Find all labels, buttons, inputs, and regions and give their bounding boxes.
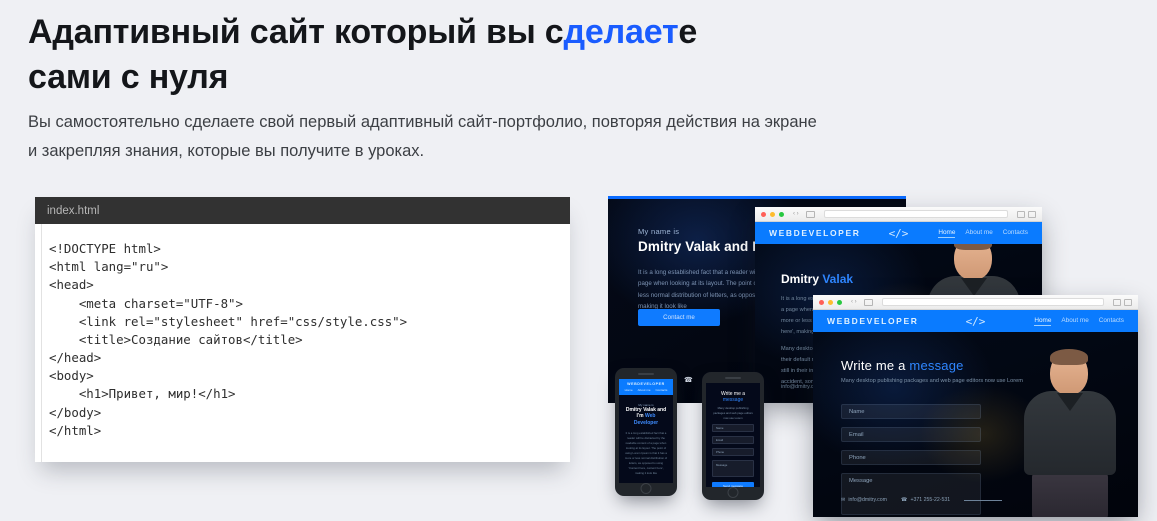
- headline-part-1: Адаптивный сайт который вы с: [28, 13, 564, 51]
- phone-home-button-icon: [728, 487, 739, 498]
- person-photo: [1016, 347, 1124, 517]
- contact-footer: ✉ info@dmitry.com ☎ +371 255-22-531: [841, 497, 1002, 503]
- chrome-right-controls[interactable]: [1113, 299, 1132, 306]
- page-root: Адаптивный сайт который вы сделаете сами…: [0, 0, 1157, 521]
- close-icon[interactable]: [761, 212, 766, 217]
- phone-brand: WEBDEVELOPER: [619, 382, 673, 386]
- mockup-collage: My name is Dmitry Valak and I'm Web Deve…: [600, 190, 1157, 521]
- code-card: index.html <!DOCTYPE html> <html lang="r…: [35, 197, 570, 462]
- phone-nav-contacts[interactable]: Contacts: [656, 388, 668, 392]
- about-title: Dmitry Valak: [781, 272, 853, 286]
- code-glyph-icon: </>: [966, 315, 986, 328]
- phone-screen-hero: WEBDEVELOPER Home About me Contacts My n…: [619, 379, 673, 483]
- mockup-browser-contact: ‹ › WEBDEVELOPER </> Home About me Conta…: [813, 295, 1138, 517]
- phone-handset-icon: ☎: [684, 376, 693, 384]
- contact-field-name[interactable]: Name: [841, 404, 981, 419]
- code-card-header: index.html: [35, 197, 570, 224]
- share-icon[interactable]: [1017, 211, 1025, 218]
- code-glyph-icon: </>: [889, 227, 909, 240]
- page-subtitle: Вы самостоятельно сделаете свой первый а…: [28, 108, 828, 167]
- close-icon[interactable]: [819, 300, 824, 305]
- contact-field-email[interactable]: Email: [841, 427, 981, 442]
- contact-title: Write me a message: [841, 358, 964, 373]
- mockup-phone-contact: Write me a message Many desktop publishi…: [702, 372, 764, 500]
- browser-chrome-about: ‹ ›: [755, 207, 1042, 222]
- footer-phone-text: +371 255-22-531: [910, 497, 950, 503]
- site-nav-links: Home About me Contacts: [938, 229, 1028, 238]
- contact-field-message[interactable]: Message: [841, 473, 981, 515]
- site-brand: WEBDEVELOPER: [827, 316, 918, 326]
- nav-arrows-icon[interactable]: ‹ ›: [851, 299, 857, 305]
- footer-phone-item: ☎ +371 255-22-531: [901, 497, 950, 503]
- phone-form-content: Write me a message Many desktop publishi…: [706, 383, 760, 487]
- person-hair: [1050, 349, 1088, 365]
- share-icon[interactable]: [1113, 299, 1121, 306]
- site-body-contact: Write me a message Many desktop publishi…: [813, 332, 1138, 517]
- nav-item-home[interactable]: Home: [1034, 317, 1051, 326]
- mail-icon: ✉: [841, 497, 845, 503]
- footer-divider: [964, 500, 1002, 501]
- phone-field-email[interactable]: Email: [712, 436, 754, 444]
- phone-nav-hero: WEBDEVELOPER Home About me Contacts: [619, 379, 673, 395]
- code-card-body: <!DOCTYPE html> <html lang="ru"> <head> …: [35, 224, 570, 462]
- address-bar[interactable]: [824, 210, 1008, 218]
- phone-icon: ☎: [901, 497, 907, 503]
- mockup-phone-hero: WEBDEVELOPER Home About me Contacts My n…: [615, 368, 677, 496]
- nav-item-about[interactable]: About me: [965, 229, 992, 238]
- about-title-accent: Valak: [822, 272, 853, 286]
- nav-item-home[interactable]: Home: [938, 229, 955, 238]
- tabs-icon[interactable]: [1028, 211, 1036, 218]
- code-snippet: <!DOCTYPE html> <html lang="ru"> <head> …: [49, 240, 570, 440]
- contact-title-accent: message: [909, 358, 963, 373]
- minimize-icon[interactable]: [828, 300, 833, 305]
- phone-speaker: [638, 373, 654, 375]
- site-nav-contact: WEBDEVELOPER </> Home About me Contacts: [813, 310, 1138, 332]
- sidebar-toggle-icon[interactable]: [806, 211, 815, 218]
- phone-field-phone[interactable]: Phone: [712, 448, 754, 456]
- headline-line-2: сами с нуля: [28, 58, 228, 96]
- code-filename-label: index.html: [47, 205, 99, 217]
- nav-arrows-icon[interactable]: ‹ ›: [793, 211, 799, 217]
- person-legs: [1032, 473, 1108, 517]
- tabs-icon[interactable]: [1124, 299, 1132, 306]
- sidebar-toggle-icon[interactable]: [864, 299, 873, 306]
- about-title-text: Dmitry: [781, 272, 822, 286]
- phone-contact-subtitle: Many desktop publishing packages and web…: [712, 406, 754, 420]
- maximize-icon[interactable]: [779, 212, 784, 217]
- phone-nav-links: Home About me Contacts: [619, 388, 673, 392]
- contact-title-text: Write me a: [841, 358, 909, 373]
- phone-hero-paragraph: It is a long established fact that a rea…: [624, 431, 668, 476]
- phone-home-button-icon: [641, 483, 652, 494]
- chrome-right-controls[interactable]: [1017, 211, 1036, 218]
- site-brand: WEBDEVELOPER: [769, 228, 860, 238]
- maximize-icon[interactable]: [837, 300, 842, 305]
- phone-speaker: [725, 377, 741, 379]
- phone-field-message[interactable]: Message: [712, 460, 754, 477]
- site-nav-about: WEBDEVELOPER </> Home About me Contacts: [755, 222, 1042, 244]
- footer-email-text: info@dmitry.com: [848, 497, 887, 503]
- minimize-icon[interactable]: [770, 212, 775, 217]
- headline-part-2: е: [678, 13, 697, 51]
- phone-contact-title-accent: message: [723, 397, 743, 403]
- phone-hero-content: My name is Dmitry Valak and I'm Web Deve…: [619, 395, 673, 483]
- site-nav-links: Home About me Contacts: [1034, 317, 1124, 326]
- phone-field-name[interactable]: Name: [712, 424, 754, 432]
- browser-chrome-contact: ‹ ›: [813, 295, 1138, 310]
- nav-item-contacts[interactable]: Contacts: [1003, 229, 1028, 238]
- phone-nav-home[interactable]: Home: [625, 388, 633, 392]
- headline-accent: делает: [564, 13, 679, 51]
- code-gutter: [41, 224, 42, 462]
- footer-email-item: ✉ info@dmitry.com: [841, 497, 887, 503]
- phone-contact-title: Write me a message: [712, 391, 754, 403]
- nav-item-contacts[interactable]: Contacts: [1099, 317, 1124, 326]
- phone-hero-title: Dmitry Valak and I'm Web Developer: [624, 407, 668, 426]
- hero-eyebrow: My name is: [638, 227, 679, 236]
- phone-screen-contact: Write me a message Many desktop publishi…: [706, 383, 760, 487]
- phone-nav-about[interactable]: About me: [638, 388, 651, 392]
- hero-contact-button[interactable]: Contact me: [638, 309, 720, 326]
- nav-item-about[interactable]: About me: [1061, 317, 1088, 326]
- contact-field-phone[interactable]: Phone: [841, 450, 981, 465]
- address-bar[interactable]: [882, 298, 1104, 306]
- page-title: Адаптивный сайт который вы сделаете сами…: [28, 10, 828, 100]
- person-hair: [954, 244, 992, 250]
